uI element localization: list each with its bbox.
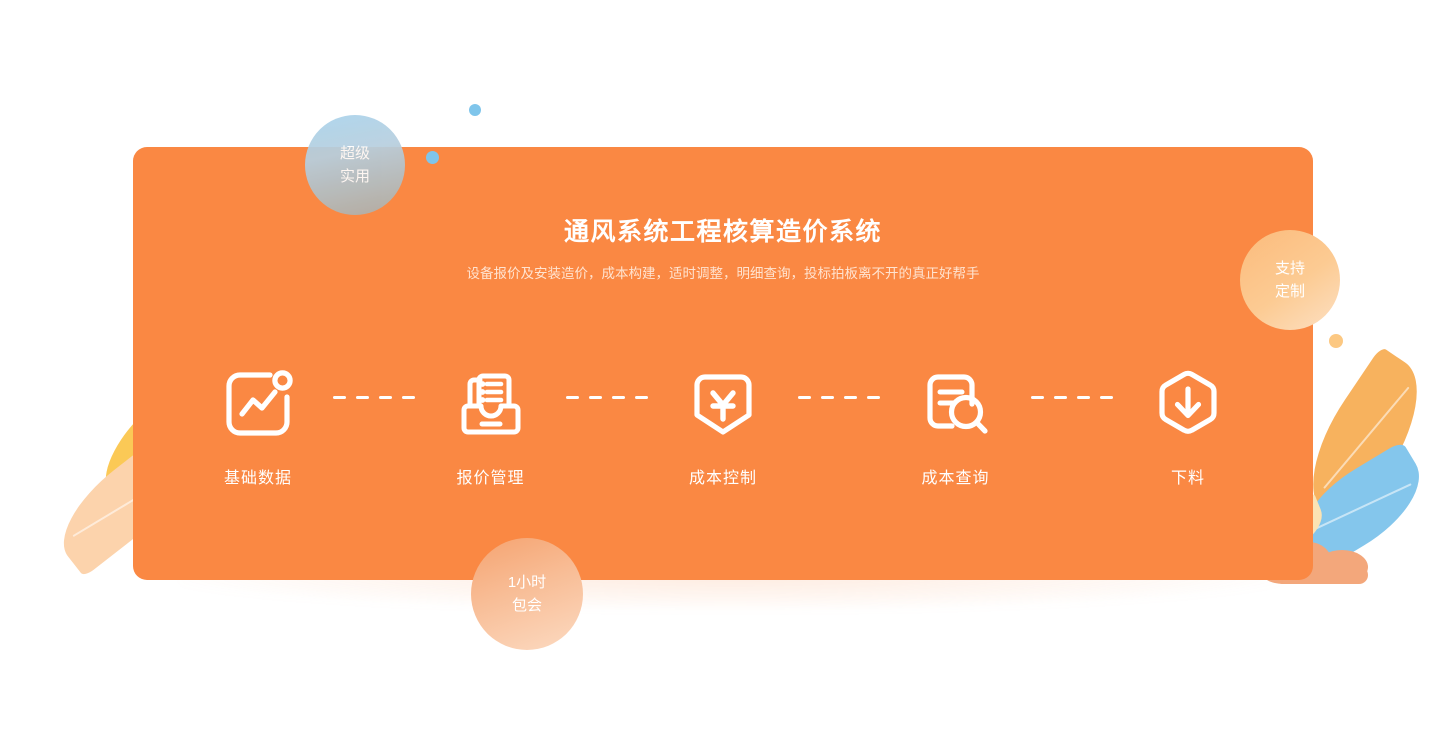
badge-line-2: 实用 bbox=[340, 165, 370, 188]
badge-one-hour-mastery: 1小时 包会 bbox=[471, 538, 583, 650]
blue-dot-panel-edge bbox=[426, 151, 439, 164]
feature-panel: 通风系统工程核算造价系统 设备报价及安装造价，成本构建，适时调整，明细查询，投标… bbox=[133, 147, 1313, 580]
blue-dot-upper bbox=[469, 104, 481, 116]
amber-dot-right bbox=[1329, 334, 1343, 348]
connector-dashes-2 bbox=[566, 396, 648, 399]
connector-dashes-4 bbox=[1031, 396, 1113, 399]
badge-line-2: 包会 bbox=[512, 594, 542, 617]
feature-label: 成本查询 bbox=[921, 464, 989, 488]
inbox-documents-icon bbox=[449, 362, 533, 446]
feature-item-material-cutting[interactable]: 下料 bbox=[1123, 362, 1253, 488]
chart-card-icon bbox=[216, 362, 300, 446]
page-title: 通风系统工程核算造价系统 bbox=[133, 212, 1313, 248]
feature-list: 基础数据 bbox=[193, 362, 1253, 488]
feature-item-cost-query[interactable]: 成本查询 bbox=[891, 362, 1021, 488]
connector-dashes-3 bbox=[798, 396, 880, 399]
page-subtitle: 设备报价及安装造价，成本构建，适时调整，明细查询，投标拍板离不开的真正好帮手 bbox=[463, 261, 983, 286]
badge-line-2: 定制 bbox=[1275, 280, 1305, 303]
feature-item-basic-data[interactable]: 基础数据 bbox=[193, 362, 323, 488]
feature-item-quotation-management[interactable]: 报价管理 bbox=[426, 362, 556, 488]
badge-line-1: 1小时 bbox=[508, 571, 546, 594]
feature-label: 报价管理 bbox=[456, 464, 524, 488]
feature-label: 下料 bbox=[1171, 464, 1205, 488]
feature-label: 基础数据 bbox=[224, 464, 292, 488]
badge-supports-customization: 支持 定制 bbox=[1240, 230, 1340, 330]
feature-label: 成本控制 bbox=[689, 464, 757, 488]
hexagon-download-icon bbox=[1146, 362, 1230, 446]
feature-item-cost-control[interactable]: 成本控制 bbox=[658, 362, 788, 488]
banner-canvas: 通风系统工程核算造价系统 设备报价及安装造价，成本构建，适时调整，明细查询，投标… bbox=[0, 0, 1440, 730]
badge-line-1: 超级 bbox=[340, 142, 370, 165]
badge-super-practical: 超级 实用 bbox=[305, 115, 405, 215]
connector-dashes-1 bbox=[333, 396, 415, 399]
badge-line-1: 支持 bbox=[1275, 257, 1305, 280]
yuan-shield-icon bbox=[681, 362, 765, 446]
document-search-icon bbox=[914, 362, 998, 446]
